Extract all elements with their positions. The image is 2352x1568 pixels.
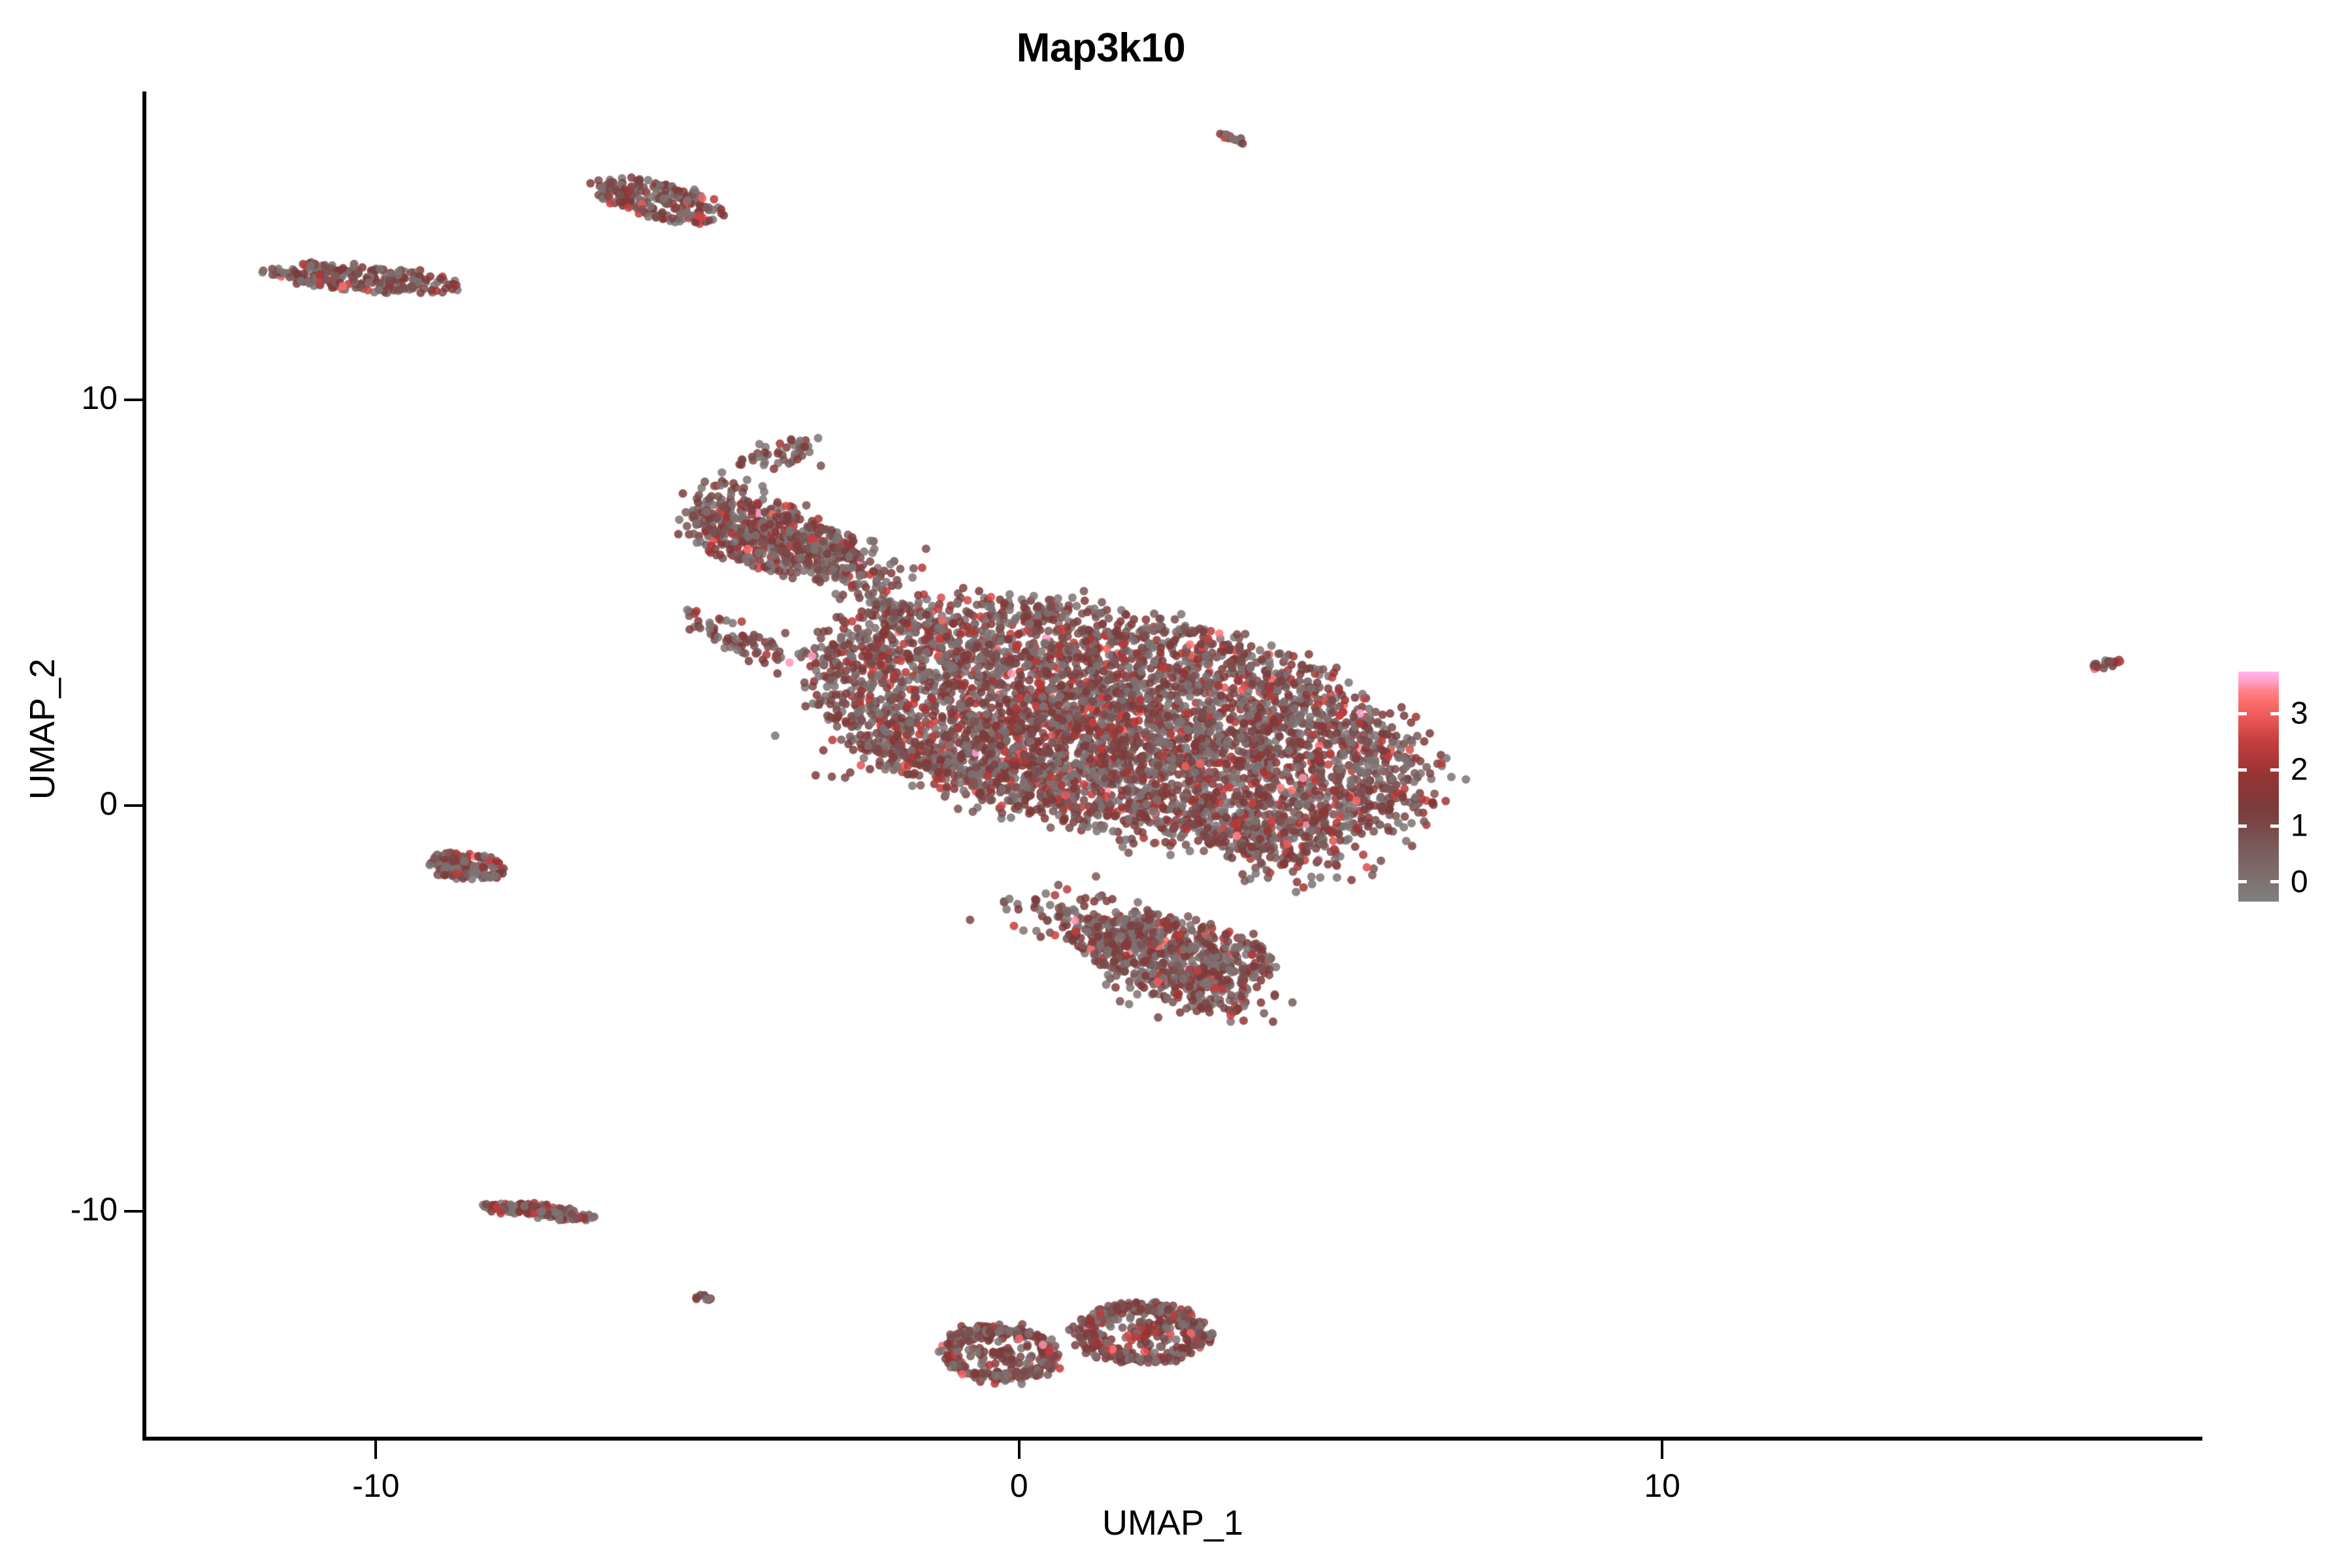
- legend-tick-right-1: [2270, 825, 2279, 828]
- y-axis-ticklabel-0: 0: [99, 785, 118, 823]
- plot-panel: [144, 91, 2202, 1439]
- legend-colorbar: [2238, 672, 2279, 902]
- x-axis-ticklabel-10: 10: [1644, 1467, 1680, 1505]
- x-axis-tick-0: [1018, 1441, 1021, 1459]
- x-axis-ticklabel-0: 0: [1010, 1467, 1028, 1505]
- legend-tick-right-3: [2270, 712, 2279, 715]
- scatter-points-layer: [144, 91, 2202, 1439]
- x-axis-tick-neg10: [374, 1441, 377, 1459]
- legend-ticklabel-1: 1: [2291, 808, 2308, 844]
- x-axis-ticklabel-neg10: -10: [352, 1467, 399, 1505]
- y-axis-ticklabel-10: 10: [81, 379, 118, 417]
- y-axis-tick-10: [124, 399, 142, 401]
- legend-tick-left-1: [2238, 825, 2247, 828]
- y-axis-ticklabel-neg10: -10: [71, 1190, 118, 1228]
- legend-tick-right-0: [2270, 880, 2279, 883]
- y-axis-tick-neg10: [124, 1210, 142, 1213]
- legend-tick-left-3: [2238, 712, 2247, 715]
- y-axis-tick-0: [124, 804, 142, 807]
- legend-ticklabel-3: 3: [2291, 696, 2308, 732]
- x-axis-label: UMAP_1: [0, 1503, 2352, 1543]
- umap-feature-plot: Map3k10 10 0 -10 -10 0 10 UMAP_1 UMAP_2 …: [0, 0, 2352, 1568]
- legend-tick-right-2: [2270, 768, 2279, 772]
- y-axis-spine: [142, 91, 146, 1441]
- y-axis-label: UMAP_2: [22, 533, 63, 925]
- x-axis-spine: [142, 1437, 2202, 1441]
- x-axis-tick-10: [1661, 1441, 1663, 1459]
- legend-ticklabel-2: 2: [2291, 752, 2308, 788]
- legend-ticklabel-0: 0: [2291, 864, 2308, 900]
- x-axis-label-text: UMAP_1: [1102, 1503, 1243, 1543]
- page-title: Map3k10: [0, 25, 2202, 71]
- color-legend: 3 2 1 0: [2238, 672, 2279, 902]
- legend-tick-left-2: [2238, 768, 2247, 772]
- legend-tick-left-0: [2238, 880, 2247, 883]
